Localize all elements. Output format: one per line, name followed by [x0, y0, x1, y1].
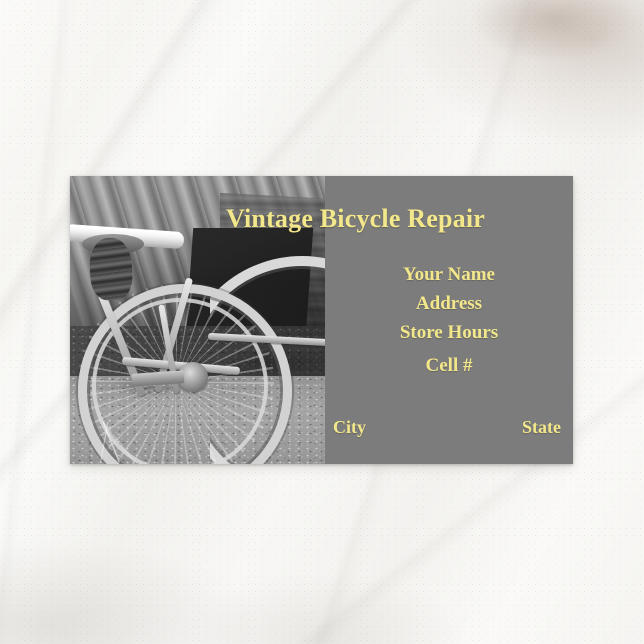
detail-your-name: Your Name [325, 260, 573, 289]
footer-city: City [333, 417, 366, 438]
card-details-block: Your Name Address Store Hours Cell # [325, 260, 573, 380]
screenshot-canvas: Vintage Bicycle Repair Your Name Address… [0, 0, 644, 644]
detail-address: Address [325, 289, 573, 318]
detail-cell-number: Cell # [325, 351, 573, 380]
card-footer-row: City State [325, 414, 573, 440]
card-title: Vintage Bicycle Repair [70, 205, 573, 232]
card-text-layer: Vintage Bicycle Repair Your Name Address… [70, 176, 573, 464]
detail-store-hours: Store Hours [325, 318, 573, 347]
footer-state: State [522, 417, 561, 438]
business-card[interactable]: Vintage Bicycle Repair Your Name Address… [70, 176, 573, 464]
